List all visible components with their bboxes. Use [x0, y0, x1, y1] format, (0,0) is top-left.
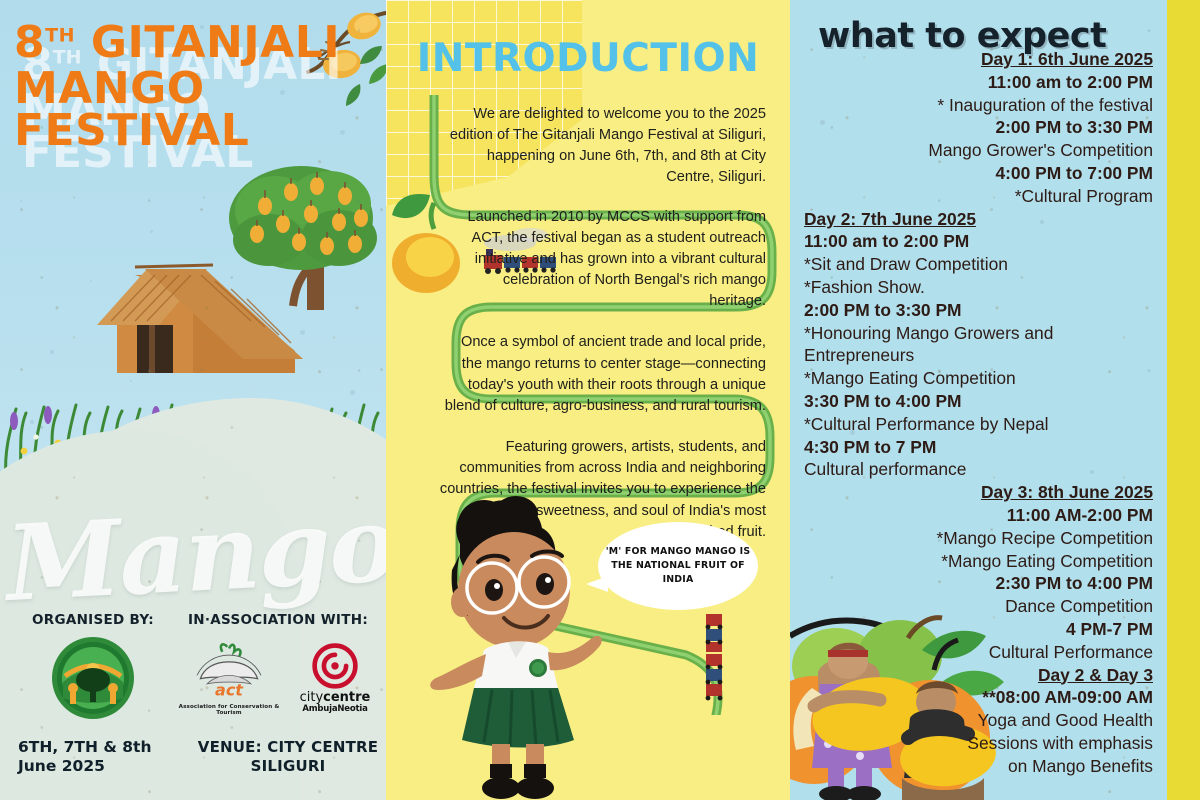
schedule-line: *Mango Eating Competition	[804, 367, 1153, 390]
schedule-line: 2:00 PM to 3:30 PM	[804, 299, 1153, 322]
schoolgirl-mascot-illustration	[408, 492, 618, 800]
intro-paragraph-3: Once a symbol of ancient trade and local…	[440, 332, 790, 417]
toy-train-icon	[700, 612, 736, 708]
festival-dates: 6TH, 7TH & 8th June 2025	[0, 738, 190, 777]
schedule-day-heading: Day 1: 6th June 2025	[804, 48, 1153, 71]
speech-bubble: 'M' FOR MANGO MANGO IS THE NATIONAL FRUI…	[598, 522, 758, 610]
svg-text:act: act	[215, 681, 244, 700]
introduction-heading: INTRODUCTION	[386, 36, 790, 81]
schedule-line: *Cultural Performance by Nepal	[804, 413, 1153, 436]
schedule-day-heading: Day 3: 8th June 2025	[804, 481, 1153, 504]
schedule-line: 4 PM-7 PM	[804, 618, 1153, 641]
schedule-line: 11:00 AM-2:00 PM	[804, 504, 1153, 527]
schedule-line: Cultural Performance	[804, 641, 1153, 664]
right-edge-yellow-strip	[1167, 0, 1200, 800]
left-panel: 8TH GITANJALI MANGO FESTIVAL 8TH GITANJA…	[0, 0, 386, 800]
schedule-line: 4:00 PM to 7:00 PM	[804, 162, 1153, 185]
schedule-line: 2:00 PM to 3:30 PM	[804, 116, 1153, 139]
schedule-line: Sessions with emphasis	[804, 732, 1153, 755]
schedule-list: Day 1: 6th June 202511:00 am to 2:00 PM*…	[790, 48, 1167, 778]
title-brand: GITANJALI	[91, 17, 340, 68]
schedule-line: *Honouring Mango Growers and	[804, 322, 1153, 345]
schedule-line: * Inauguration of the festival	[804, 94, 1153, 117]
schedule-day-heading: Day 2 & Day 3	[804, 664, 1153, 687]
schedule-line: 2:30 PM to 4:00 PM	[804, 572, 1153, 595]
schedule-line: on Mango Benefits	[804, 755, 1153, 778]
poster-title: 8TH GITANJALI MANGO FESTIVAL	[14, 22, 384, 153]
schedule-line: Entrepreneurs	[804, 344, 1153, 367]
mccs-logo	[51, 636, 135, 720]
mango-watermark: Mango	[3, 482, 386, 625]
city-centre-logo: citycentre AmbujaNeotia	[289, 640, 381, 716]
title-edition-suffix: TH	[45, 24, 75, 46]
schedule-line: 11:00 am to 2:00 PM	[804, 230, 1153, 253]
cc-subbrand: AmbujaNeotia	[289, 705, 381, 714]
sponsor-section: ORGANISED BY: IN·ASSOCIATION WITH:	[0, 612, 386, 777]
mango-festival-poster: 8TH GITANJALI MANGO FESTIVAL 8TH GITANJA…	[0, 0, 1200, 800]
intro-paragraph-2: Launched in 2010 by MCCS with support fr…	[442, 207, 790, 313]
schedule-line: 11:00 am to 2:00 PM	[804, 71, 1153, 94]
schedule-line: *Sit and Draw Competition	[804, 253, 1153, 276]
schedule-line: 3:30 PM to 4:00 PM	[804, 390, 1153, 413]
speech-bubble-text: 'M' FOR MANGO MANGO IS THE NATIONAL FRUI…	[598, 545, 758, 587]
organised-by-label: ORGANISED BY:	[0, 612, 170, 628]
schedule-line: *Mango Recipe Competition	[804, 527, 1153, 550]
act-logo: act Association for Conservation & Touri…	[175, 640, 283, 716]
schedule-line: *Mango Eating Competition	[804, 550, 1153, 573]
schedule-line: Yoga and Good Health	[804, 709, 1153, 732]
act-caption: Association for Conservation & Tourism	[175, 704, 283, 716]
schedule-line: **08:00 AM-09:00 AM	[804, 686, 1153, 709]
schedule-day-heading: Day 2: 7th June 2025	[804, 208, 1153, 231]
intro-paragraph-1: We are delighted to welcome you to the 2…	[448, 104, 790, 189]
schedule-line: Dance Competition	[804, 595, 1153, 618]
festival-venue: VENUE: CITY CENTRE SILIGURI	[190, 738, 386, 777]
schedule-line: *Cultural Program	[804, 185, 1153, 208]
schedule-line: *Fashion Show.	[804, 276, 1153, 299]
schedule-line: 4:30 PM to 7 PM	[804, 436, 1153, 459]
schedule-line: Mango Grower's Competition	[804, 139, 1153, 162]
schedule-line: Cultural performance	[804, 458, 1153, 481]
in-association-label: IN·ASSOCIATION WITH:	[170, 612, 386, 628]
title-edition-number: 8	[14, 17, 45, 68]
title-subject: MANGO FESTIVAL	[14, 68, 384, 152]
introduction-body: We are delighted to welcome you to the 2…	[386, 104, 790, 543]
schedule-panel: what to expect Day 1: 6th June 202511:00…	[790, 0, 1167, 800]
